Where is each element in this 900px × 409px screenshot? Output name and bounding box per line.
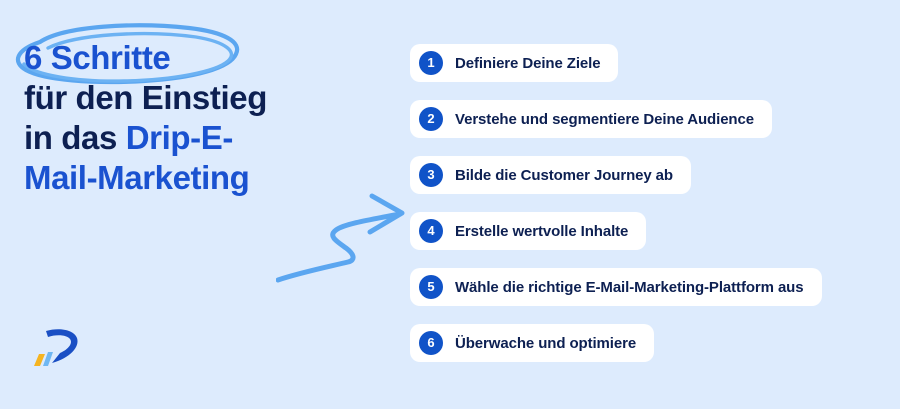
step-number-badge: 2 xyxy=(419,107,443,131)
step-label: Bilde die Customer Journey ab xyxy=(455,167,673,184)
headline-line-2: für den Einstieg xyxy=(24,78,384,118)
headline-line-1: 6 Schritte xyxy=(24,38,384,78)
steps-list: 1 Definiere Deine Ziele 2 Verstehe und s… xyxy=(410,44,888,362)
headline-line-3-prefix: in das xyxy=(24,119,126,156)
headline-column: 6 Schritte für den Einstieg in das Drip-… xyxy=(0,0,400,409)
step-number-badge: 4 xyxy=(419,219,443,243)
step-number-badge: 3 xyxy=(419,163,443,187)
list-item[interactable]: 5 Wähle die richtige E-Mail-Marketing-Pl… xyxy=(410,268,822,306)
drip-logo xyxy=(30,322,86,370)
step-label: Wähle die richtige E-Mail-Marketing-Plat… xyxy=(455,279,804,296)
step-label: Überwache und optimiere xyxy=(455,335,636,352)
list-item[interactable]: 1 Definiere Deine Ziele xyxy=(410,44,618,82)
headline-line-3-accent: Drip-E- xyxy=(126,119,233,156)
page-title: 6 Schritte für den Einstieg in das Drip-… xyxy=(24,38,384,198)
step-number-badge: 5 xyxy=(419,275,443,299)
step-number-badge: 6 xyxy=(419,331,443,355)
infographic-poster: 6 Schritte für den Einstieg in das Drip-… xyxy=(0,0,900,409)
step-label: Erstelle wertvolle Inhalte xyxy=(455,223,628,240)
headline-line-3: in das Drip-E- xyxy=(24,118,384,158)
headline-line-4: Mail-Marketing xyxy=(24,158,384,198)
list-item[interactable]: 2 Verstehe und segmentiere Deine Audienc… xyxy=(410,100,772,138)
list-item[interactable]: 3 Bilde die Customer Journey ab xyxy=(410,156,691,194)
list-item[interactable]: 4 Erstelle wertvolle Inhalte xyxy=(410,212,646,250)
arrow-scribble-icon xyxy=(276,192,408,288)
step-label: Definiere Deine Ziele xyxy=(455,55,600,72)
list-item[interactable]: 6 Überwache und optimiere xyxy=(410,324,654,362)
step-label: Verstehe und segmentiere Deine Audience xyxy=(455,111,754,128)
step-number-badge: 1 xyxy=(419,51,443,75)
